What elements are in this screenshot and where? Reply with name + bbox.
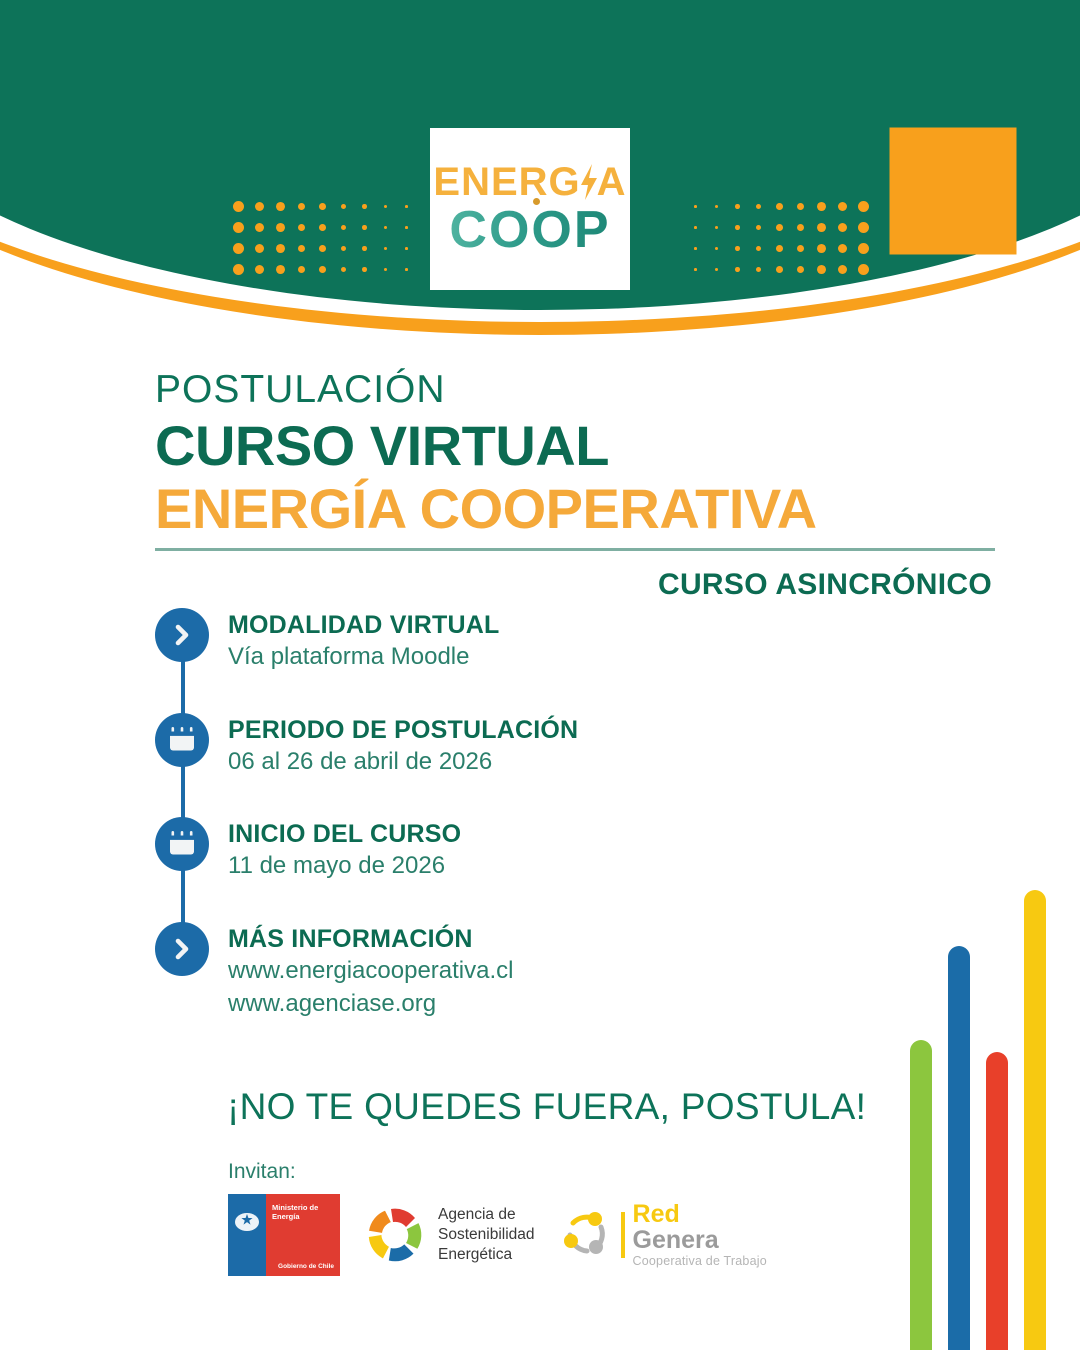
- gobierno-de-chile-label: Gobierno de Chile: [278, 1263, 334, 1270]
- dot: [811, 259, 832, 280]
- dot: [312, 259, 333, 280]
- decorative-bars: [900, 850, 1080, 1350]
- timeline-item-3: MÁS INFORMACIÓNwww.energiacooperativa.cl…: [155, 922, 855, 1019]
- timeline-item-text: PERIODO DE POSTULACIÓN06 al 26 de abril …: [228, 713, 578, 778]
- dot: [769, 217, 790, 238]
- dot: [375, 196, 396, 217]
- red-genera-logo: Red Genera Cooperativa de Trabajo: [561, 1202, 767, 1268]
- dot: [312, 217, 333, 238]
- red-genera-word-red: Red: [633, 1202, 767, 1228]
- dot: [333, 217, 354, 238]
- dot: [790, 196, 811, 217]
- dot: [727, 217, 748, 238]
- dot: [685, 238, 706, 259]
- dot: [396, 196, 417, 217]
- dot: [354, 217, 375, 238]
- dot: [832, 217, 853, 238]
- dot-grid-icon-left: [228, 196, 417, 280]
- dot: [228, 217, 249, 238]
- dot: [354, 259, 375, 280]
- timeline-item-title: PERIODO DE POSTULACIÓN: [228, 715, 578, 745]
- dot: [706, 238, 727, 259]
- timeline-item-title: MODALIDAD VIRTUAL: [228, 610, 499, 640]
- dot: [291, 217, 312, 238]
- calendar-icon: [167, 725, 197, 755]
- sponsors-block: Invitan: Ministerio de Energía Gobierno …: [228, 1160, 767, 1276]
- ministerio-de-energia-logo: Ministerio de Energía Gobierno de Chile: [228, 1194, 340, 1276]
- page-kicker: POSTULACIÓN: [155, 368, 817, 413]
- ministerio-name-line1: Ministerio de: [272, 1203, 318, 1212]
- dot: [270, 238, 291, 259]
- dot: [249, 217, 270, 238]
- dot: [727, 196, 748, 217]
- bar-blue: [948, 946, 970, 1350]
- timeline-item-text: INICIO DEL CURSO11 de mayo de 2026: [228, 817, 461, 882]
- dot: [685, 259, 706, 280]
- dot: [853, 259, 874, 280]
- dot: [270, 217, 291, 238]
- chevron-right-icon: [169, 936, 195, 962]
- timeline-item-text: MÁS INFORMACIÓNwww.energiacooperativa.cl…: [228, 922, 513, 1019]
- agencia-name-line3: Energética: [438, 1245, 535, 1265]
- dot: [228, 196, 249, 217]
- red-genera-divider: [621, 1212, 625, 1258]
- timeline-item-2: INICIO DEL CURSO11 de mayo de 2026: [155, 817, 855, 882]
- timeline-item-detail: 11 de mayo de 2026: [228, 851, 461, 882]
- logo-coop-text: COOP: [449, 201, 610, 259]
- dot: [375, 259, 396, 280]
- dot: [727, 238, 748, 259]
- timeline-item-detail[interactable]: www.energiacooperativa.cl: [228, 956, 513, 987]
- flag-blue-panel: [228, 1194, 266, 1276]
- timeline-item-text: MODALIDAD VIRTUALVía plataforma Moodle: [228, 608, 499, 673]
- dot: [396, 259, 417, 280]
- page-title-line2: ENERGÍA COOPERATIVA: [155, 478, 817, 541]
- dot: [333, 196, 354, 217]
- dot: [333, 259, 354, 280]
- dot: [685, 217, 706, 238]
- dot: [396, 238, 417, 259]
- red-genera-word-genera: Genera: [633, 1228, 767, 1254]
- calendar-icon: [167, 829, 197, 859]
- dot: [790, 217, 811, 238]
- dot: [811, 238, 832, 259]
- call-to-action: ¡NO TE QUEDES FUERA, POSTULA!: [227, 1086, 866, 1128]
- bar-red: [986, 1052, 1008, 1350]
- dot-grid-icon-right: [685, 196, 874, 280]
- dot: [228, 259, 249, 280]
- ministerio-name-line2: Energía: [272, 1212, 318, 1221]
- bolt-icon: [579, 162, 599, 202]
- dot: [832, 238, 853, 259]
- info-timeline: MODALIDAD VIRTUALVía plataforma MoodlePE…: [155, 608, 855, 1060]
- bar-green: [910, 1040, 932, 1350]
- dot: [354, 238, 375, 259]
- dot: [228, 238, 249, 259]
- agencia-sostenibilidad-energetica-logo: Agencia de Sostenibilidad Energética: [362, 1202, 535, 1268]
- agencia-name-line1: Agencia de: [438, 1205, 535, 1225]
- dot: [748, 217, 769, 238]
- dot: [333, 238, 354, 259]
- timeline-item-detail[interactable]: www.agenciase.org: [228, 989, 513, 1020]
- sponsors-label: Invitan:: [228, 1160, 767, 1184]
- dot: [769, 259, 790, 280]
- timeline-rail: [181, 638, 185, 968]
- chevron-right-icon-badge: [155, 922, 209, 976]
- dot: [270, 196, 291, 217]
- dot: [396, 217, 417, 238]
- agencia-name: Agencia de Sostenibilidad Energética: [438, 1205, 535, 1264]
- dot: [727, 259, 748, 280]
- dot: [832, 196, 853, 217]
- dot: [853, 238, 874, 259]
- flag-red-panel: Ministerio de Energía Gobierno de Chile: [266, 1194, 340, 1276]
- dot: [853, 217, 874, 238]
- dot: [249, 196, 270, 217]
- calendar-icon-badge: [155, 713, 209, 767]
- bar-yellow: [1024, 890, 1046, 1350]
- dot: [748, 259, 769, 280]
- dot: [249, 259, 270, 280]
- dot: [853, 196, 874, 217]
- title-divider: [155, 548, 995, 551]
- dot: [748, 196, 769, 217]
- course-type-label: CURSO ASINCRÓNICO: [658, 568, 992, 602]
- dot: [685, 196, 706, 217]
- timeline-item-title: MÁS INFORMACIÓN: [228, 924, 513, 954]
- dot: [375, 238, 396, 259]
- chile-coat-of-arms-icon: [233, 1211, 261, 1233]
- dot: [270, 259, 291, 280]
- title-block: POSTULACIÓN CURSO VIRTUAL ENERGÍA COOPER…: [155, 368, 817, 540]
- dot: [312, 196, 333, 217]
- dot: [790, 259, 811, 280]
- dot: [769, 238, 790, 259]
- dot: [291, 196, 312, 217]
- logo-text-a: A: [597, 162, 627, 202]
- timeline-item-0: MODALIDAD VIRTUALVía plataforma Moodle: [155, 608, 855, 673]
- dot: [312, 238, 333, 259]
- timeline-item-detail: 06 al 26 de abril de 2026: [228, 747, 578, 778]
- logo-wordmark-coop: COOP: [449, 204, 610, 256]
- page-title-line1: CURSO VIRTUAL: [155, 415, 817, 478]
- dot: [706, 259, 727, 280]
- chevron-right-icon-badge: [155, 608, 209, 662]
- logo-text-energ: ENERG: [433, 162, 580, 202]
- dot: [769, 196, 790, 217]
- dot: [354, 196, 375, 217]
- dot: [706, 196, 727, 217]
- pinwheel-icon: [362, 1202, 428, 1268]
- chevron-right-icon: [169, 622, 195, 648]
- timeline-item-detail: Vía plataforma Moodle: [228, 642, 499, 673]
- red-genera-wordmark: Red Genera Cooperativa de Trabajo: [633, 1202, 767, 1268]
- calendar-icon-badge: [155, 817, 209, 871]
- dot: [811, 196, 832, 217]
- network-nodes-icon: [561, 1209, 613, 1261]
- dot: [748, 238, 769, 259]
- dot: [706, 217, 727, 238]
- dot: [375, 217, 396, 238]
- sponsor-logo-row: Ministerio de Energía Gobierno de Chile …: [228, 1194, 767, 1276]
- dot: [249, 238, 270, 259]
- red-genera-tagline: Cooperativa de Trabajo: [633, 1255, 767, 1268]
- energia-coop-logo: ENERG A COOP: [430, 128, 630, 290]
- ministerio-name: Ministerio de Energía: [272, 1203, 318, 1222]
- dot: [790, 238, 811, 259]
- timeline-item-1: PERIODO DE POSTULACIÓN06 al 26 de abril …: [155, 713, 855, 778]
- logo-wordmark-energia: ENERG A: [433, 162, 626, 202]
- dot: [832, 259, 853, 280]
- dot: [291, 238, 312, 259]
- agencia-name-line2: Sostenibilidad: [438, 1225, 535, 1245]
- timeline-item-title: INICIO DEL CURSO: [228, 819, 461, 849]
- dot: [811, 217, 832, 238]
- dot: [291, 259, 312, 280]
